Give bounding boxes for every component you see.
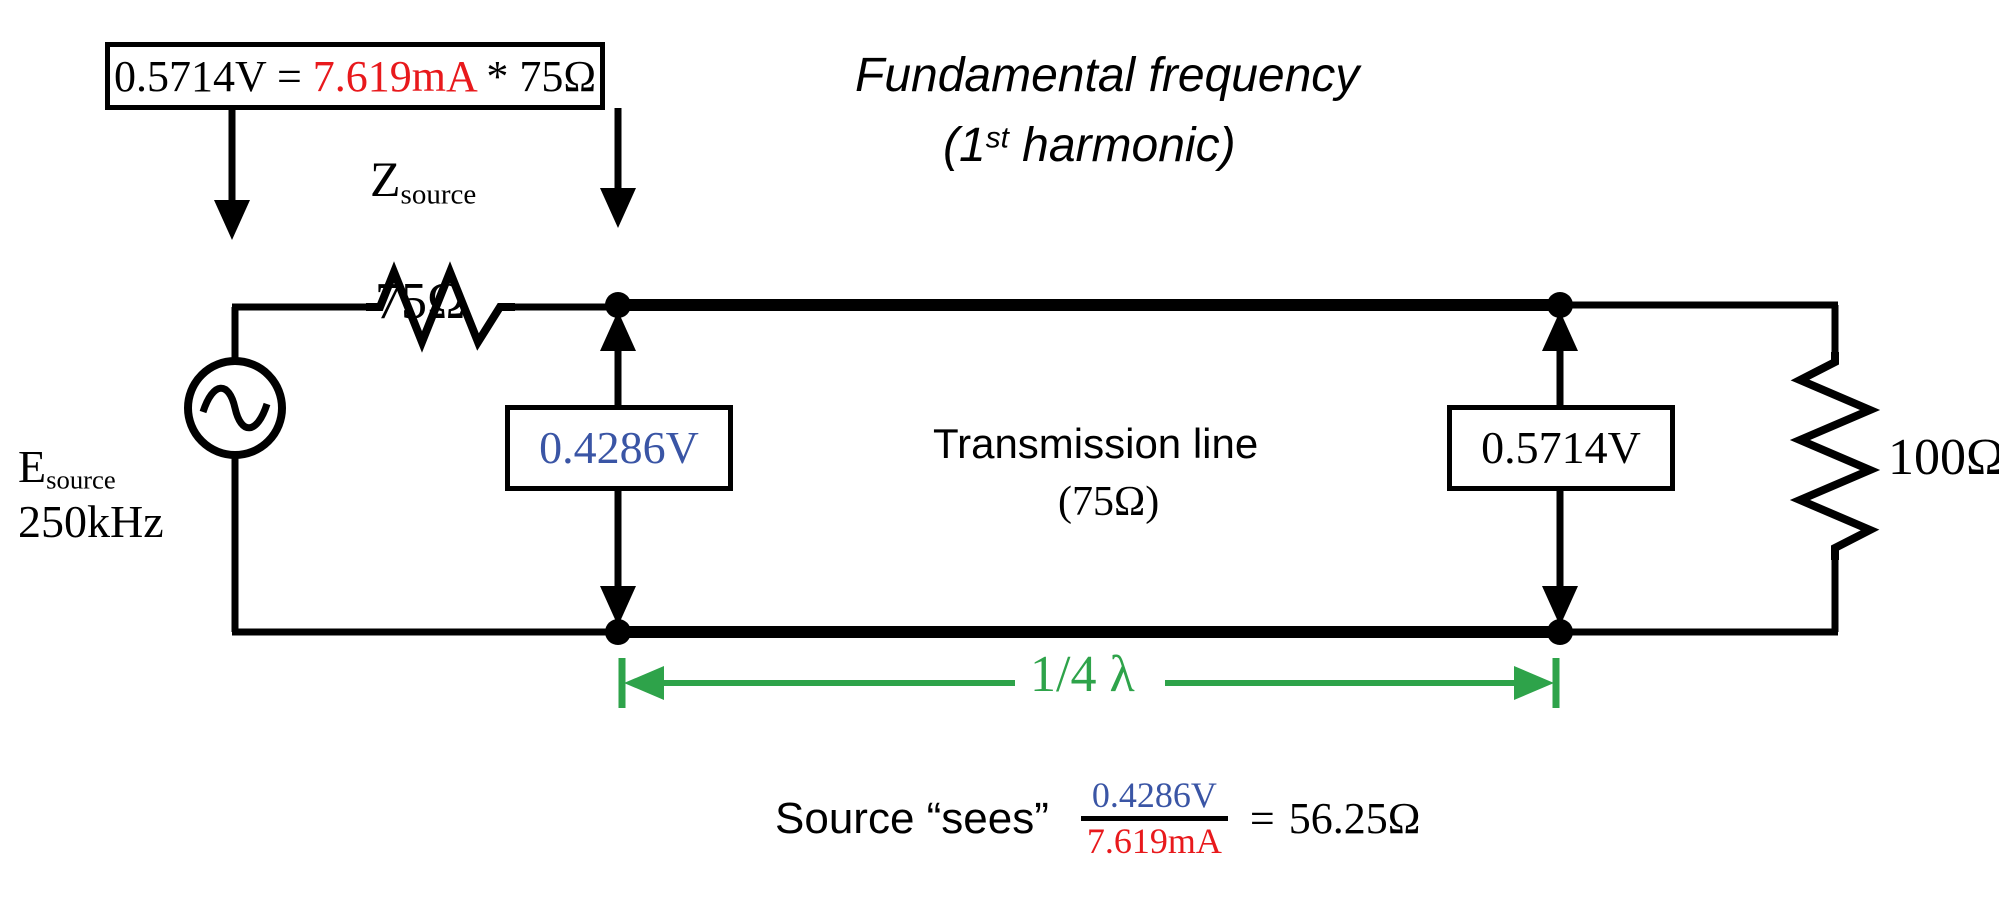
source-label-subscript: source xyxy=(46,465,116,495)
bottom-note-equals: = xyxy=(1250,793,1275,844)
load-value-label: 100Ω xyxy=(1888,428,1999,487)
receiving-end-meter-box: 0.5714V xyxy=(1447,405,1675,491)
bottom-note-denominator: 7.619mA xyxy=(1081,816,1228,862)
bottom-note-numerator: 0.4286V xyxy=(1081,775,1228,816)
resistor-zigzag-icon xyxy=(366,272,515,342)
sending-end-meter-value: 0.4286V xyxy=(539,425,699,471)
wavelength-label: 1/4 λ xyxy=(1030,645,1135,704)
resistor-zigzag-vertical-icon xyxy=(1800,352,1870,560)
bottom-note-fraction: 0.4286V 7.619mA xyxy=(1081,775,1228,863)
source-frequency-label: 250kHz xyxy=(18,495,164,548)
receiving-end-meter-value: 0.5714V xyxy=(1481,425,1641,471)
sending-end-meter-box: 0.4286V xyxy=(505,405,733,491)
transmission-line-impedance: (75Ω) xyxy=(1058,478,1159,526)
bottom-note-prefix: Source “sees” xyxy=(775,794,1049,844)
bottom-note-result: 56.25Ω xyxy=(1289,793,1421,844)
source-label: Esource xyxy=(18,440,116,496)
bottom-note: Source “sees” 0.4286V 7.619mA = 56.25Ω xyxy=(775,775,1420,863)
transmission-line-label: Transmission line xyxy=(933,420,1258,468)
circuit-diagram-canvas: 0.5714V = 7.619mA * 75Ω Fundamental freq… xyxy=(0,0,1999,915)
